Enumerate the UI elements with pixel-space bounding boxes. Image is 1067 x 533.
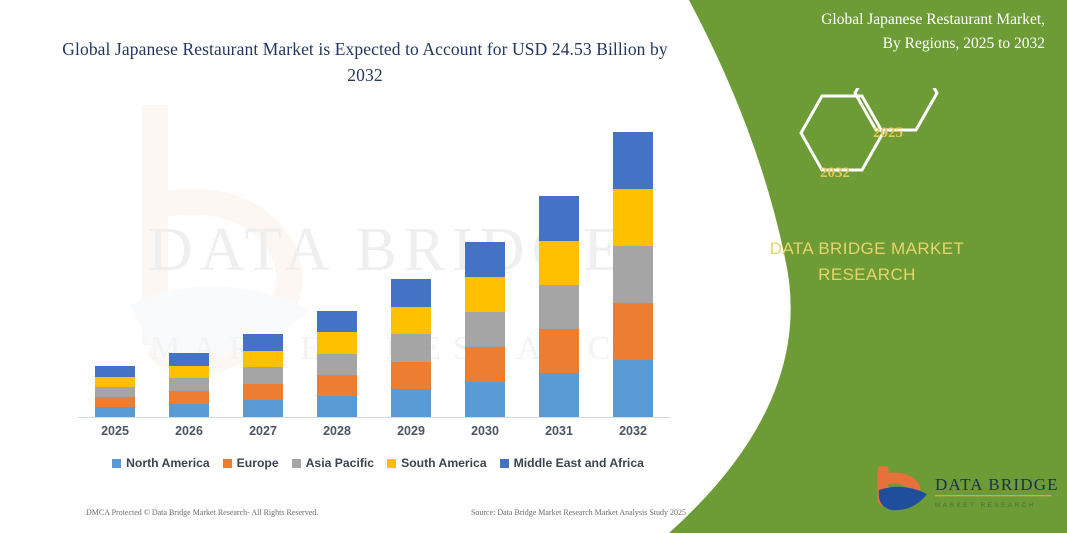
panel-title-line1: Global Japanese Restaurant Market, xyxy=(821,11,1045,28)
footer-source: Source: Data Bridge Market Research Mark… xyxy=(471,508,686,517)
hexagon-label-2032: 2032 xyxy=(820,165,850,182)
x-axis-label-2028: 2028 xyxy=(317,424,357,438)
chart-legend: North AmericaEuropeAsia PacificSouth Ame… xyxy=(78,456,678,470)
bar-2025[interactable] xyxy=(95,366,135,417)
legend-item[interactable]: Asia Pacific xyxy=(292,456,374,470)
legend-swatch-icon xyxy=(112,459,121,468)
bar-segment-asia-pacific[interactable] xyxy=(169,378,209,391)
bar-segment-europe[interactable] xyxy=(465,347,505,382)
bar-segment-asia-pacific[interactable] xyxy=(613,246,653,303)
bar-segment-middle-east-and-africa[interactable] xyxy=(391,279,431,307)
bar-segment-asia-pacific[interactable] xyxy=(539,285,579,329)
legend-item[interactable]: North America xyxy=(112,456,210,470)
legend-item[interactable]: Middle East and Africa xyxy=(500,456,644,470)
legend-swatch-icon xyxy=(292,459,301,468)
hexagon-2025-shape xyxy=(855,88,937,130)
x-axis-label-2029: 2029 xyxy=(391,424,431,438)
stacked-bar-chart xyxy=(78,118,678,418)
legend-item[interactable]: Europe xyxy=(223,456,279,470)
bar-segment-middle-east-and-africa[interactable] xyxy=(317,311,357,332)
bar-segment-south-america[interactable] xyxy=(317,332,357,353)
bar-segment-europe[interactable] xyxy=(169,391,209,404)
x-axis-labels: 20252026202720282029203020312032 xyxy=(78,424,670,438)
footer-copyright: DMCA Protected © Data Bridge Market Rese… xyxy=(86,508,318,517)
legend-swatch-icon xyxy=(223,459,232,468)
brand-line2: RESEARCH xyxy=(818,265,916,284)
bar-segment-south-america[interactable] xyxy=(169,366,209,379)
bar-segment-north-america[interactable] xyxy=(317,396,357,417)
bar-2032[interactable] xyxy=(613,132,653,417)
bar-segment-south-america[interactable] xyxy=(243,351,283,368)
bar-segment-asia-pacific[interactable] xyxy=(391,334,431,362)
bar-segment-europe[interactable] xyxy=(539,329,579,373)
bar-2028[interactable] xyxy=(317,311,357,417)
x-axis-label-2026: 2026 xyxy=(169,424,209,438)
legend-label: North America xyxy=(126,456,210,470)
bar-segment-north-america[interactable] xyxy=(169,404,209,417)
bar-segment-middle-east-and-africa[interactable] xyxy=(465,242,505,277)
bar-segment-north-america[interactable] xyxy=(243,400,283,417)
bar-segment-south-america[interactable] xyxy=(391,307,431,335)
bar-segment-south-america[interactable] xyxy=(613,189,653,246)
panel-title-line2: By Regions, 2025 to 2032 xyxy=(883,35,1045,52)
x-axis-label-2027: 2027 xyxy=(243,424,283,438)
legend-label: South America xyxy=(401,456,487,470)
bar-segment-south-america[interactable] xyxy=(465,277,505,312)
bar-2030[interactable] xyxy=(465,242,505,417)
infographic-canvas: DATA BRIDGE MARKET RESEARCH Global Japan… xyxy=(0,0,1067,533)
x-axis-line xyxy=(78,417,670,418)
bar-segment-asia-pacific[interactable] xyxy=(465,312,505,347)
x-axis-label-2025: 2025 xyxy=(95,424,135,438)
chart-bars-group xyxy=(78,119,670,417)
bar-segment-europe[interactable] xyxy=(391,362,431,390)
bar-2026[interactable] xyxy=(169,353,209,417)
footer: DMCA Protected © Data Bridge Market Rese… xyxy=(86,508,686,517)
logo-tagline: MARKET RESEARCH xyxy=(935,502,1036,509)
bar-segment-asia-pacific[interactable] xyxy=(95,387,135,397)
bar-2029[interactable] xyxy=(391,279,431,417)
hexagon-label-2025: 2025 xyxy=(873,125,903,142)
bar-segment-europe[interactable] xyxy=(613,303,653,360)
bar-2031[interactable] xyxy=(539,196,579,417)
x-axis-label-2030: 2030 xyxy=(465,424,505,438)
logo-wordmark: DATA BRIDGE xyxy=(935,475,1059,494)
x-axis-label-2032: 2032 xyxy=(613,424,653,438)
legend-swatch-icon xyxy=(500,459,509,468)
bar-segment-north-america[interactable] xyxy=(391,389,431,417)
legend-label: Middle East and Africa xyxy=(514,456,644,470)
bar-segment-middle-east-and-africa[interactable] xyxy=(169,353,209,366)
data-bridge-logo: DATA BRIDGE MARKET RESEARCH xyxy=(869,466,1059,518)
bar-segment-south-america[interactable] xyxy=(539,241,579,285)
bar-segment-north-america[interactable] xyxy=(539,373,579,417)
panel-title: Global Japanese Restaurant Market, By Re… xyxy=(735,8,1045,56)
hexagon-badges: 2032 2025 xyxy=(667,88,1067,208)
bar-segment-middle-east-and-africa[interactable] xyxy=(243,334,283,351)
bar-segment-north-america[interactable] xyxy=(95,407,135,417)
bar-segment-middle-east-and-africa[interactable] xyxy=(539,196,579,240)
chart-title: Global Japanese Restaurant Market is Exp… xyxy=(60,36,670,89)
bar-segment-middle-east-and-africa[interactable] xyxy=(613,132,653,189)
bar-segment-middle-east-and-africa[interactable] xyxy=(95,366,135,376)
bar-segment-asia-pacific[interactable] xyxy=(243,367,283,384)
bar-segment-europe[interactable] xyxy=(95,397,135,407)
green-panel: Global Japanese Restaurant Market, By Re… xyxy=(667,0,1067,533)
bar-segment-europe[interactable] xyxy=(317,375,357,396)
bar-segment-north-america[interactable] xyxy=(613,360,653,417)
bar-segment-asia-pacific[interactable] xyxy=(317,354,357,375)
legend-label: Europe xyxy=(237,456,279,470)
bar-2027[interactable] xyxy=(243,334,283,417)
brand-name: DATA BRIDGE MARKET RESEARCH xyxy=(667,236,1067,289)
brand-line1: DATA BRIDGE MARKET xyxy=(770,239,965,258)
bar-segment-europe[interactable] xyxy=(243,384,283,401)
legend-label: Asia Pacific xyxy=(306,456,374,470)
legend-item[interactable]: South America xyxy=(387,456,487,470)
bar-segment-north-america[interactable] xyxy=(465,382,505,417)
hexagon-2032-shape xyxy=(801,96,883,170)
x-axis-label-2031: 2031 xyxy=(539,424,579,438)
legend-swatch-icon xyxy=(387,459,396,468)
bar-segment-south-america[interactable] xyxy=(95,377,135,387)
